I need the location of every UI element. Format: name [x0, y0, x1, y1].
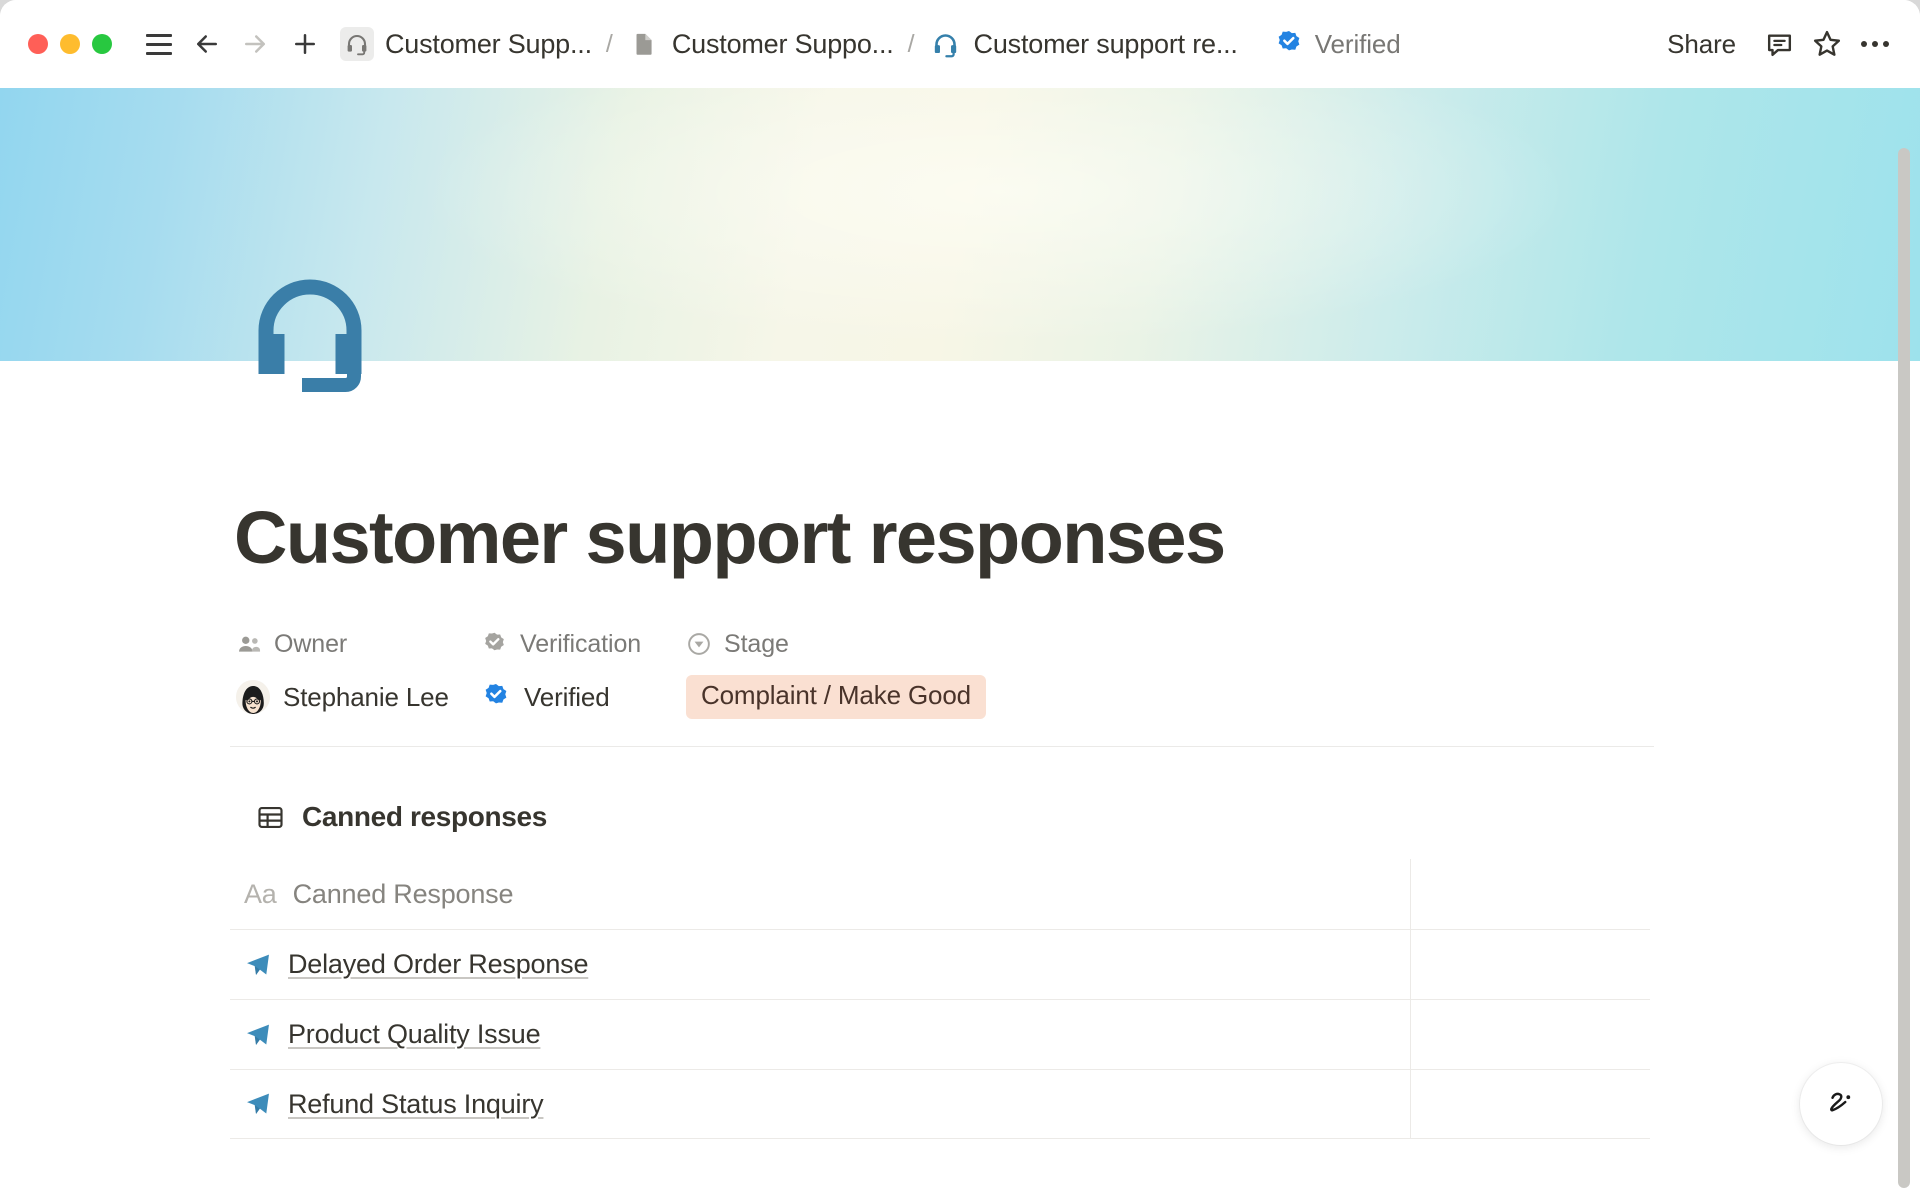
column-header-empty[interactable]	[1411, 859, 1650, 929]
send-icon	[244, 951, 272, 979]
table-cell-empty[interactable]	[1411, 1070, 1650, 1138]
table-icon	[256, 803, 285, 832]
more-options-button[interactable]	[1854, 23, 1896, 65]
plus-icon	[290, 29, 320, 59]
top-toolbar: Customer Supp... / Customer Suppo... /	[0, 0, 1920, 88]
avatar	[236, 680, 270, 714]
verified-badge-icon	[1274, 29, 1304, 59]
verification-icon	[481, 631, 508, 658]
property-label-verification: Verification	[520, 630, 641, 659]
table-row[interactable]: Product Quality Issue	[230, 999, 1650, 1069]
table-row[interactable]: Refund Status Inquiry	[230, 1069, 1650, 1139]
verified-badge-icon	[481, 682, 511, 712]
window-controls	[28, 34, 112, 54]
status-badge: Complaint / Make Good	[686, 675, 986, 719]
breadcrumb-item-parent[interactable]: Customer Suppo...	[627, 27, 894, 61]
ai-assistant-icon	[1821, 1084, 1861, 1124]
close-window-button[interactable]	[28, 34, 48, 54]
ai-assistant-button[interactable]	[1800, 1063, 1882, 1145]
column-header-label: Canned Response	[293, 879, 514, 910]
content-divider	[230, 746, 1654, 747]
table-header-row: Aa Canned Response	[230, 859, 1650, 929]
table-cell-empty[interactable]	[1411, 930, 1650, 999]
star-icon	[1811, 28, 1843, 60]
property-label-owner: Owner	[274, 630, 347, 659]
breadcrumb-label-workspace: Customer Supp...	[385, 29, 592, 60]
breadcrumb-item-current[interactable]: Customer support re...	[929, 27, 1238, 61]
verified-status[interactable]: Verified	[1274, 29, 1401, 60]
property-header-verification[interactable]: Verification	[481, 627, 686, 661]
database-title[interactable]: Canned responses	[256, 801, 547, 833]
table-cell-title[interactable]: Delayed Order Response	[230, 930, 1411, 999]
headset-icon	[340, 27, 374, 61]
table-cell-title[interactable]: Refund Status Inquiry	[230, 1070, 1411, 1138]
people-icon	[236, 631, 262, 657]
page-content: Customer support responses Owner Verific…	[0, 361, 1920, 1200]
app-window: Customer Supp... / Customer Suppo... /	[0, 0, 1920, 1200]
minimize-window-button[interactable]	[60, 34, 80, 54]
text-type-icon: Aa	[244, 879, 277, 910]
new-page-button[interactable]	[284, 23, 326, 65]
column-header-canned-response[interactable]: Aa Canned Response	[230, 859, 1411, 929]
breadcrumb: Customer Supp... / Customer Suppo... /	[340, 27, 1238, 61]
navigation-arrows	[186, 23, 276, 65]
database-title-text: Canned responses	[302, 801, 547, 833]
arrow-right-icon	[240, 29, 270, 59]
more-horizontal-icon	[1861, 41, 1889, 47]
document-icon	[627, 27, 661, 61]
breadcrumb-label-current: Customer support re...	[974, 29, 1238, 60]
breadcrumb-item-workspace[interactable]: Customer Supp...	[340, 27, 592, 61]
comment-icon	[1764, 29, 1795, 60]
breadcrumb-separator: /	[606, 30, 613, 59]
maximize-window-button[interactable]	[92, 34, 112, 54]
table-cell-empty[interactable]	[1411, 1000, 1650, 1069]
forward-button[interactable]	[234, 23, 276, 65]
table-row-link[interactable]: Delayed Order Response	[288, 949, 588, 980]
property-label-stage: Stage	[724, 630, 789, 659]
send-icon	[244, 1021, 272, 1049]
stage-icon	[686, 631, 712, 657]
send-icon	[244, 1090, 272, 1118]
headset-icon-blue	[929, 27, 963, 61]
property-header-owner[interactable]: Owner	[236, 627, 481, 661]
headset-icon	[248, 272, 372, 396]
page-icon-headset[interactable]	[248, 272, 372, 396]
favorite-button[interactable]	[1806, 23, 1848, 65]
property-owner-name: Stephanie Lee	[283, 682, 449, 713]
property-header-stage[interactable]: Stage	[686, 627, 986, 661]
verified-label: Verified	[1315, 29, 1401, 60]
property-value-verification[interactable]: Verified	[481, 675, 686, 719]
arrow-left-icon	[192, 29, 222, 59]
back-button[interactable]	[186, 23, 228, 65]
sidebar-toggle-button[interactable]	[138, 23, 180, 65]
property-verification-value: Verified	[524, 682, 610, 713]
share-button[interactable]: Share	[1651, 22, 1752, 67]
toolbar-actions: Share	[1651, 22, 1896, 67]
vertical-scrollbar[interactable]	[1898, 148, 1910, 1188]
database-table: Aa Canned Response Delayed Order Respons…	[230, 859, 1650, 1139]
page-title[interactable]: Customer support responses	[234, 501, 1225, 575]
breadcrumb-label-parent: Customer Suppo...	[672, 29, 894, 60]
property-value-owner[interactable]: Stephanie Lee	[236, 675, 481, 719]
page-properties: Owner Verification Stage	[236, 627, 986, 719]
table-row-link[interactable]: Refund Status Inquiry	[288, 1089, 543, 1120]
table-cell-title[interactable]: Product Quality Issue	[230, 1000, 1411, 1069]
table-row[interactable]: Delayed Order Response	[230, 929, 1650, 999]
hamburger-menu-icon	[146, 34, 172, 55]
comments-button[interactable]	[1758, 23, 1800, 65]
table-row-link[interactable]: Product Quality Issue	[288, 1019, 540, 1050]
breadcrumb-separator: /	[908, 30, 915, 59]
property-value-stage[interactable]: Complaint / Make Good	[686, 675, 986, 719]
